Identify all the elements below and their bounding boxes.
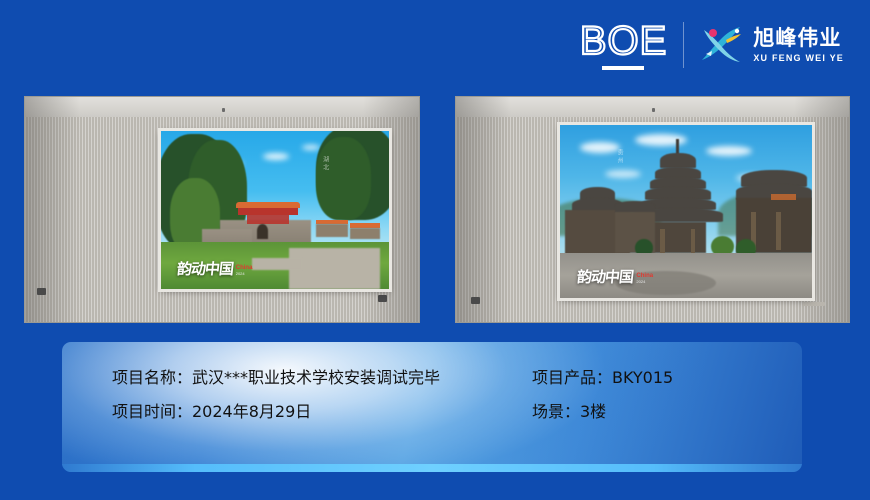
header-logo-bar: BOE 旭峰伟业 XU FENG WEI YE [580,18,844,72]
boe-logo: BOE [580,21,667,70]
project-name-line: 项目名称：武汉***职业技术学校安装调试完毕 [112,367,532,389]
screen-watermark-left: 韵动中国 China 2024 [177,261,253,277]
ceiling-fixture-icon [652,108,655,112]
watermark-en: China 2024 [636,273,653,284]
project-product-line: 项目产品：BKY015 [532,367,673,389]
screen-watermark-right: 韵动中国 China 2024 [577,269,653,285]
led-display-photo-right: 贵州 韵动中国 China 2024 [455,96,851,323]
photo-gallery: 湖北 韵动中国 China 2024 [24,96,850,323]
watermark-sub-label: 2024 [636,279,653,284]
led-display-photo-left: 湖北 韵动中国 China 2024 [24,96,420,323]
led-screen-right: 贵州 韵动中国 China 2024 [560,125,812,298]
led-screen-left: 湖北 韵动中国 China 2024 [161,131,389,290]
partner-name-en: XU FENG WEI YE [753,52,844,64]
wall-shadow-left [456,97,511,322]
wall-shadow-left [25,97,80,322]
ceiling-fixture-icon [222,108,225,112]
xufengweiye-bird-mark-icon [698,24,744,66]
boe-logo-text: BOE [580,21,667,61]
partner-logo-text: 旭峰伟业 XU FENG WEI YE [753,27,844,64]
wall-sensor-icon [37,288,46,295]
partner-name-cn: 旭峰伟业 [753,27,844,50]
logo-divider [683,22,684,68]
watermark-en: China 2024 [236,265,253,276]
watermark-cn: 韵动中国 [577,269,635,285]
project-info-panel: 项目名称：武汉***职业技术学校安装调试完毕 项目产品：BKY015 项目时间：… [62,342,802,472]
wall-trim-icon [803,302,825,306]
screen-side-text: 贵州 [615,149,624,201]
project-info-grid: 项目名称：武汉***职业技术学校安装调试完毕 项目产品：BKY015 项目时间：… [112,367,673,423]
wall-sensor-icon [378,295,387,302]
project-time-line: 项目时间：2024年8月29日 [112,401,532,423]
screen-side-text: 湖北 [321,156,330,210]
partner-logo: 旭峰伟业 XU FENG WEI YE [698,24,844,66]
watermark-sub-label: 2024 [236,271,253,276]
project-scene-line: 场景：3楼 [532,401,673,423]
wall-sensor-icon [471,297,480,304]
watermark-cn: 韵动中国 [176,261,234,277]
boe-logo-underline [602,66,644,70]
